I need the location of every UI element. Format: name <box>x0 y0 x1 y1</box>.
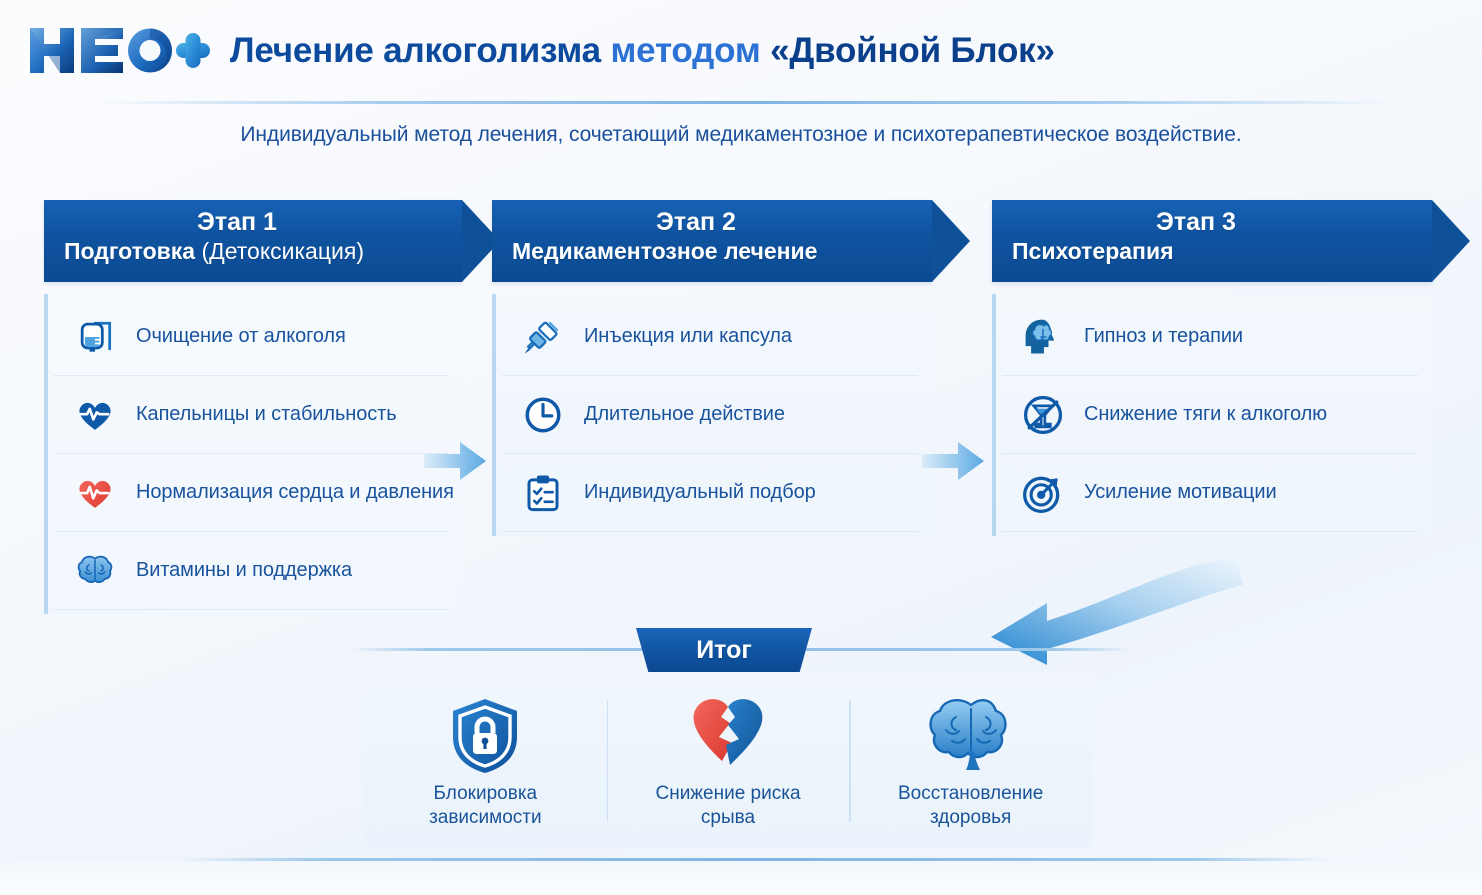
heart-pulse-red-icon <box>68 466 122 520</box>
result-item-label: Блокировка зависимости <box>429 782 542 830</box>
result-item-label-line2: зависимости <box>429 807 542 828</box>
list-item[interactable]: Очищение от алкоголя <box>54 298 448 376</box>
page-title: Лечение алкоголизма методом «Двойной Бло… <box>230 33 1055 68</box>
broken-heart-icon <box>688 698 768 774</box>
stage-2-label: Этап 2 <box>512 208 880 238</box>
list-item[interactable]: Усиление мотивации <box>1002 454 1418 532</box>
result-item-label-line1: Блокировка <box>434 783 538 804</box>
checklist-clipboard-icon <box>516 466 570 520</box>
stage-2-banner: Этап 2 Медикаментозное лечение <box>492 200 932 282</box>
target-arrow-icon <box>1016 466 1070 520</box>
result-item-label-line1: Снижение риска <box>655 783 800 804</box>
result-item-label: Снижение риска срыва <box>655 782 800 830</box>
result-box: Блокировка зависимости Сниж <box>364 674 1092 848</box>
list-item-label: Витамины и поддержка <box>136 559 352 582</box>
list-item[interactable]: Капельницы и стабильность <box>54 376 448 454</box>
list-item-label: Снижение тяги к алкоголю <box>1084 403 1327 426</box>
stage-1-title: Подготовка (Детоксикация) <box>64 238 410 264</box>
stage-3-title: Психотерапия <box>1012 238 1380 264</box>
stage-2-title: Медикаментозное лечение <box>512 238 880 264</box>
stage-2-card: Инъекция или капсула Длительное действие <box>492 294 932 536</box>
list-item-label: Нормализация сердца и давления <box>136 481 454 504</box>
list-item-label: Инъекция или капсула <box>584 325 792 348</box>
neo-plus-logo <box>26 23 212 77</box>
title-part-2: методом <box>610 31 760 70</box>
stage-1-title-thin: (Детоксикация) <box>201 238 364 264</box>
result-item[interactable]: Восстановление здоровья <box>849 694 1092 828</box>
syringe-icon <box>516 310 570 364</box>
header-divider <box>95 101 1395 104</box>
page-subtitle: Индивидуальный метод лечения, сочетающий… <box>0 123 1482 147</box>
heart-pulse-blue-icon <box>68 388 122 442</box>
stage-3-title-bold: Психотерапия <box>1012 238 1174 264</box>
stage-1-card: Очищение от алкоголя Капельницы и стабил… <box>44 294 462 614</box>
head-brain-icon <box>1016 310 1070 364</box>
stage-2-title-bold: Медикаментозное лечение <box>512 238 817 264</box>
stage-3-label: Этап 3 <box>1012 208 1380 238</box>
list-item-label: Усиление мотивации <box>1084 481 1277 504</box>
arrow-stage3-to-result-icon <box>975 545 1275 665</box>
bottom-divider <box>180 858 1330 861</box>
result-item-label-line1: Восстановление <box>898 783 1043 804</box>
iv-drip-icon <box>68 310 122 364</box>
list-item[interactable]: Индивидуальный подбор <box>502 454 918 532</box>
result-item-label-line2: срыва <box>701 807 755 828</box>
list-item[interactable]: Витамины и поддержка <box>54 532 448 610</box>
list-item-label: Индивидуальный подбор <box>584 481 816 504</box>
result-item-label-line2: здоровья <box>930 807 1011 828</box>
stage-1-label: Этап 1 <box>64 208 410 238</box>
list-item-label: Капельницы и стабильность <box>136 403 397 426</box>
page-header: Лечение алкоголизма методом «Двойной Бло… <box>0 0 1482 100</box>
clock-icon <box>516 388 570 442</box>
stages-container: Этап 1 Подготовка (Детоксикация) <box>0 200 1482 560</box>
arrow-stage2-to-stage3-icon <box>922 440 986 482</box>
no-alcohol-glass-icon <box>1016 388 1070 442</box>
result-banner: Итог <box>636 628 812 672</box>
stage-1-title-bold: Подготовка <box>64 238 195 264</box>
stage-3-card: Гипноз и терапии Снижение тяги к алкогол… <box>992 294 1432 536</box>
result-item-label: Восстановление здоровья <box>898 782 1043 830</box>
stage-column-3: Этап 3 Психотерапия Гипноз и терапии <box>992 200 1432 536</box>
brain-icon <box>68 544 122 598</box>
shield-lock-icon <box>449 698 521 774</box>
list-item-label: Длительное действие <box>584 403 785 426</box>
stage-1-banner: Этап 1 Подготовка (Детоксикация) <box>44 200 462 282</box>
list-item[interactable]: Нормализация сердца и давления <box>54 454 448 532</box>
bottom-glow <box>0 862 1482 895</box>
stage-column-2: Этап 2 Медикаментозное лечение <box>492 200 932 536</box>
list-item[interactable]: Снижение тяги к алкоголю <box>1002 376 1418 454</box>
list-item-label: Очищение от алкоголя <box>136 325 346 348</box>
arrow-stage1-to-stage2-icon <box>424 440 488 482</box>
title-part-3: «Двойной Блок» <box>770 31 1055 70</box>
stage-3-banner: Этап 3 Психотерапия <box>992 200 1432 282</box>
result-item[interactable]: Снижение риска срыва <box>607 694 850 828</box>
list-item[interactable]: Длительное действие <box>502 376 918 454</box>
list-item[interactable]: Гипноз и терапии <box>1002 298 1418 376</box>
list-item-label: Гипноз и терапии <box>1084 325 1243 348</box>
title-part-1: Лечение алкоголизма <box>230 31 601 70</box>
brain-recovery-icon <box>928 698 1014 774</box>
result-item[interactable]: Блокировка зависимости <box>364 694 607 828</box>
list-item[interactable]: Инъекция или капсула <box>502 298 918 376</box>
stage-column-1: Этап 1 Подготовка (Детоксикация) <box>44 200 462 614</box>
